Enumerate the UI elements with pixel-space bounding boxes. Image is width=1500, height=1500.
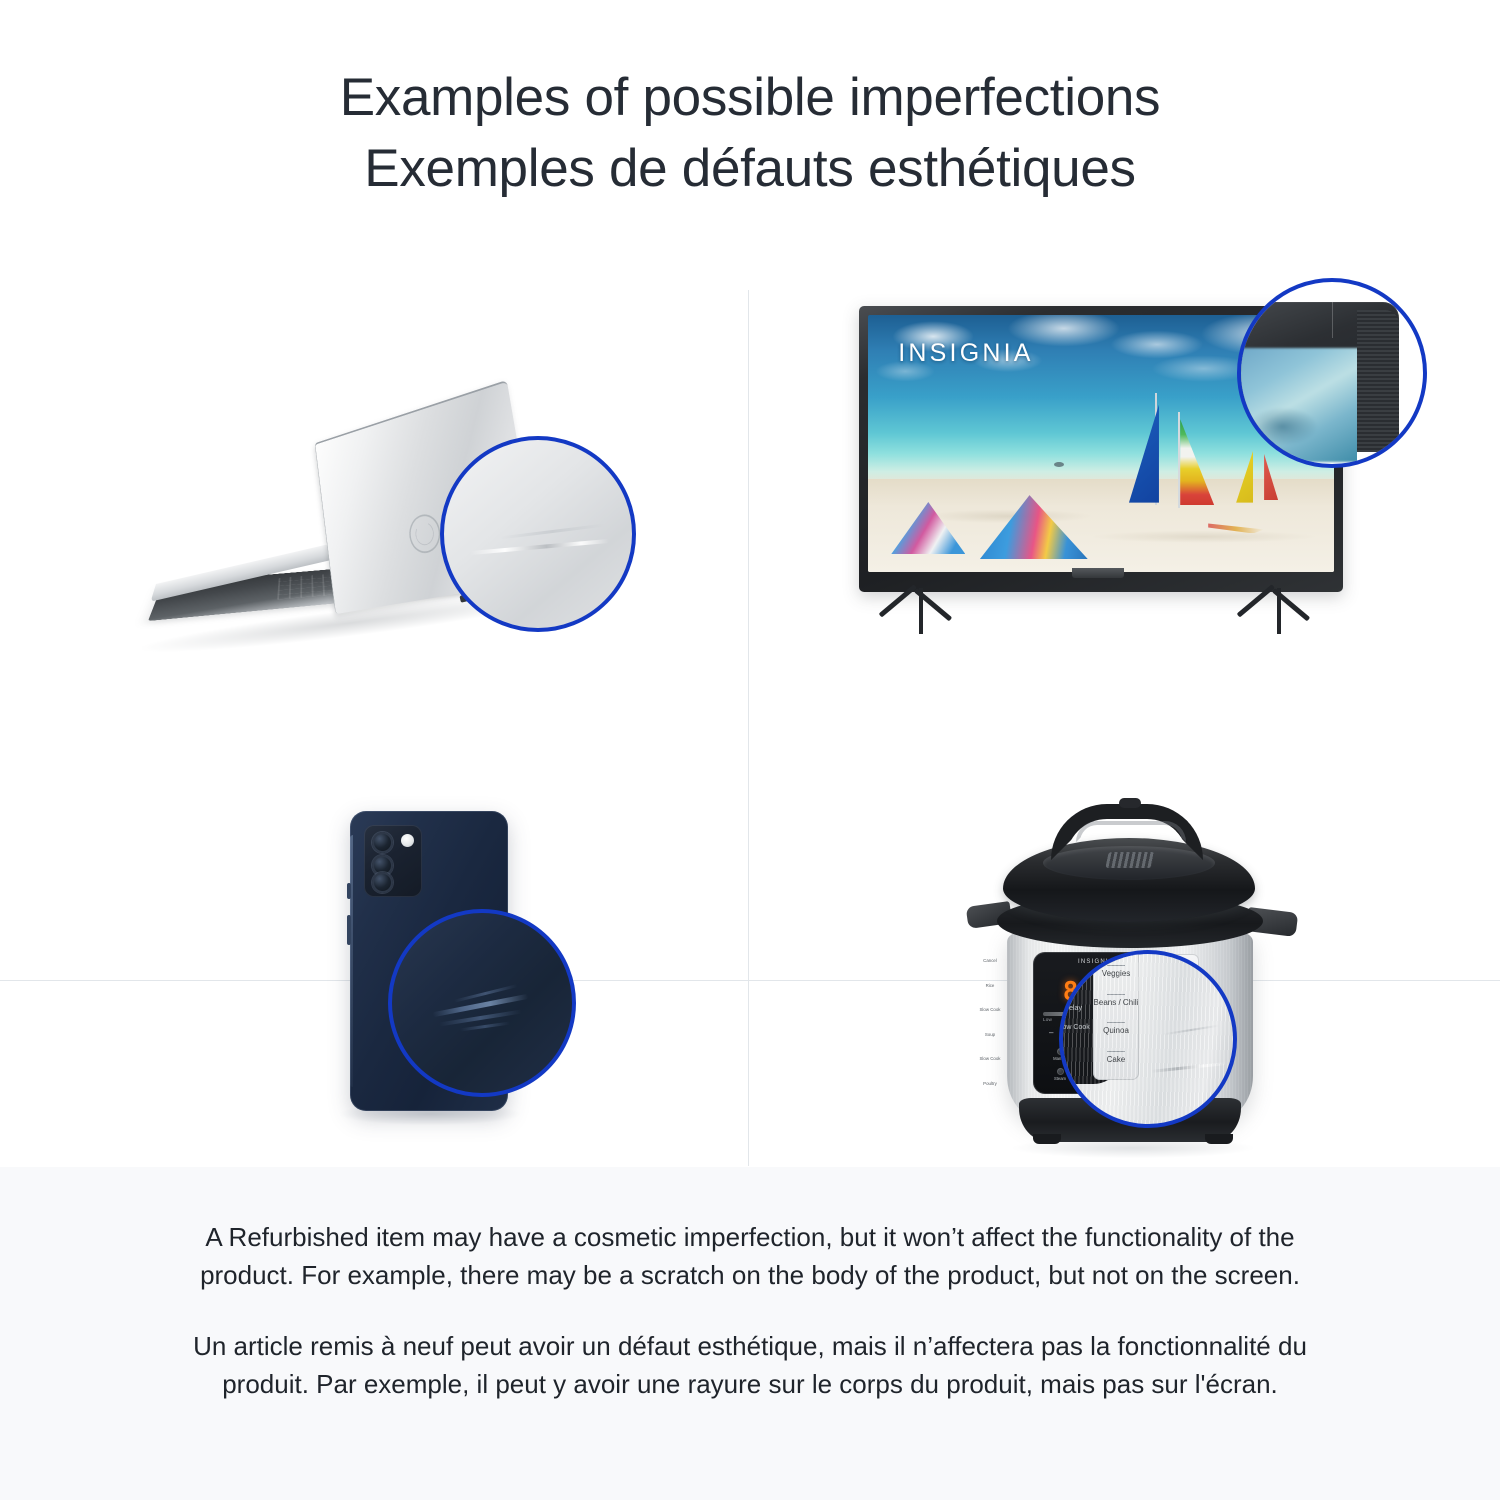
camera-flash-icon — [401, 834, 414, 847]
example-cell-pressure-cooker: Cancel Rice Slow Cook Soup Slow Cook Pou… — [749, 981, 1500, 1166]
cooker-foot — [1205, 1134, 1233, 1144]
tv-stand-leg-right — [1277, 588, 1281, 634]
cooker-button-divider-icon — [1107, 1051, 1125, 1052]
laptop-brand-logo-icon — [405, 509, 445, 559]
cooker-foot — [1033, 1134, 1061, 1144]
cooker-zoom-button-label: Quinoa — [1103, 1026, 1129, 1035]
tv-illustration: INSIGNIA — [859, 306, 1359, 656]
cooker-slider-label: Low — [1043, 1017, 1052, 1022]
cooker-zoom-button-label: Beans / Chili — [1094, 998, 1139, 1007]
footer-paragraph-en: A Refurbished item may have a cosmetic i… — [187, 1218, 1313, 1294]
cooker-button-divider-icon — [1107, 994, 1125, 995]
magnifier-circle-phone — [388, 909, 576, 1097]
examples-grid: INSIGNIA — [0, 258, 1500, 1166]
cooker-zoom-button-label: Veggies — [1102, 969, 1130, 978]
page-title: Examples of possible imperfections Exemp… — [0, 0, 1500, 204]
scratch-mark — [460, 1021, 510, 1031]
tv-logo-bar — [1072, 568, 1124, 578]
cooker-white-buttons-zoom: Veggies Beans / Chili Quinoa Cake — [1093, 950, 1139, 1080]
cooker-left-label: Poultry — [983, 1081, 997, 1086]
camera-lens-icon — [372, 832, 393, 853]
cooker-left-label-column: Cancel Rice Slow Cook Soup Slow Cook Pou… — [977, 958, 1003, 1086]
cooker-zoom-button-label: Cake — [1107, 1055, 1126, 1064]
cooker-lid-handle — [1051, 804, 1203, 860]
cooker-left-label: Soup — [985, 1032, 995, 1037]
scratch-mark — [501, 524, 606, 540]
tv-screen-distant-boat — [1054, 462, 1064, 467]
magnifier-circle-pressure-cooker: Delay Slow Cook Veggies Beans / Chili Qu… — [1059, 950, 1237, 1128]
tv-bezel-corner-zoom — [1239, 302, 1427, 462]
phone-camera-module — [364, 825, 422, 897]
cooker-zoom-button[interactable]: Quinoa — [1103, 1019, 1129, 1035]
phone-volume-button — [347, 915, 351, 945]
tv-screen-zoom — [1237, 348, 1359, 462]
cooker-dark-labels-zoom: Delay Slow Cook — [1059, 994, 1093, 1042]
laptop-illustration — [130, 358, 650, 688]
cooker-minus-button[interactable]: – — [1049, 1028, 1053, 1037]
tv-brand-logo: INSIGNIA — [898, 339, 1033, 368]
footer-description: A Refurbished item may have a cosmetic i… — [0, 1167, 1500, 1500]
scratch-mark — [1151, 1062, 1226, 1073]
cooker-button-divider-icon — [1107, 1022, 1125, 1023]
page-title-en: Examples of possible imperfections — [0, 62, 1500, 133]
footer-paragraph-fr: Un article remis à neuf peut avoir un dé… — [187, 1327, 1313, 1403]
phone-mute-button — [347, 883, 351, 899]
camera-lens-icon — [372, 872, 393, 893]
imperfections-infographic: Examples of possible imperfections Exemp… — [0, 0, 1500, 1500]
page-title-fr: Exemples de défauts esthétiques — [0, 133, 1500, 204]
cooker-button-divider-icon — [1107, 965, 1125, 966]
magnifier-circle-tv — [1237, 278, 1427, 468]
cooker-left-label: Cancel — [983, 958, 997, 963]
cooker-zoom-button[interactable]: Veggies — [1102, 962, 1130, 978]
tv-stand-leg-left — [919, 588, 923, 634]
cooker-left-label: Rice — [986, 983, 995, 988]
cooker-zoom-button[interactable]: Cake — [1107, 1048, 1126, 1064]
cooker-panel-zoom — [1059, 950, 1123, 1084]
cooker-zoom-dark-label: Slow Cook — [1059, 1023, 1093, 1032]
zoom-mask — [1357, 452, 1427, 468]
magnifier-circle-laptop — [440, 436, 636, 632]
tv-bezel-side-zoom — [1357, 310, 1399, 460]
tv-screen-mast — [1178, 412, 1180, 508]
cooker-left-label: Slow Cook — [980, 1007, 1001, 1012]
example-cell-phone — [0, 981, 748, 1166]
scratch-mark — [470, 539, 609, 555]
cooker-handle-knob — [1119, 798, 1141, 808]
scratch-mark — [1162, 1024, 1219, 1035]
cooker-zoom-button[interactable]: Beans / Chili — [1094, 991, 1139, 1007]
cooker-zoom-dark-label: Delay — [1059, 1004, 1093, 1013]
cooker-left-label: Slow Cook — [980, 1056, 1001, 1061]
